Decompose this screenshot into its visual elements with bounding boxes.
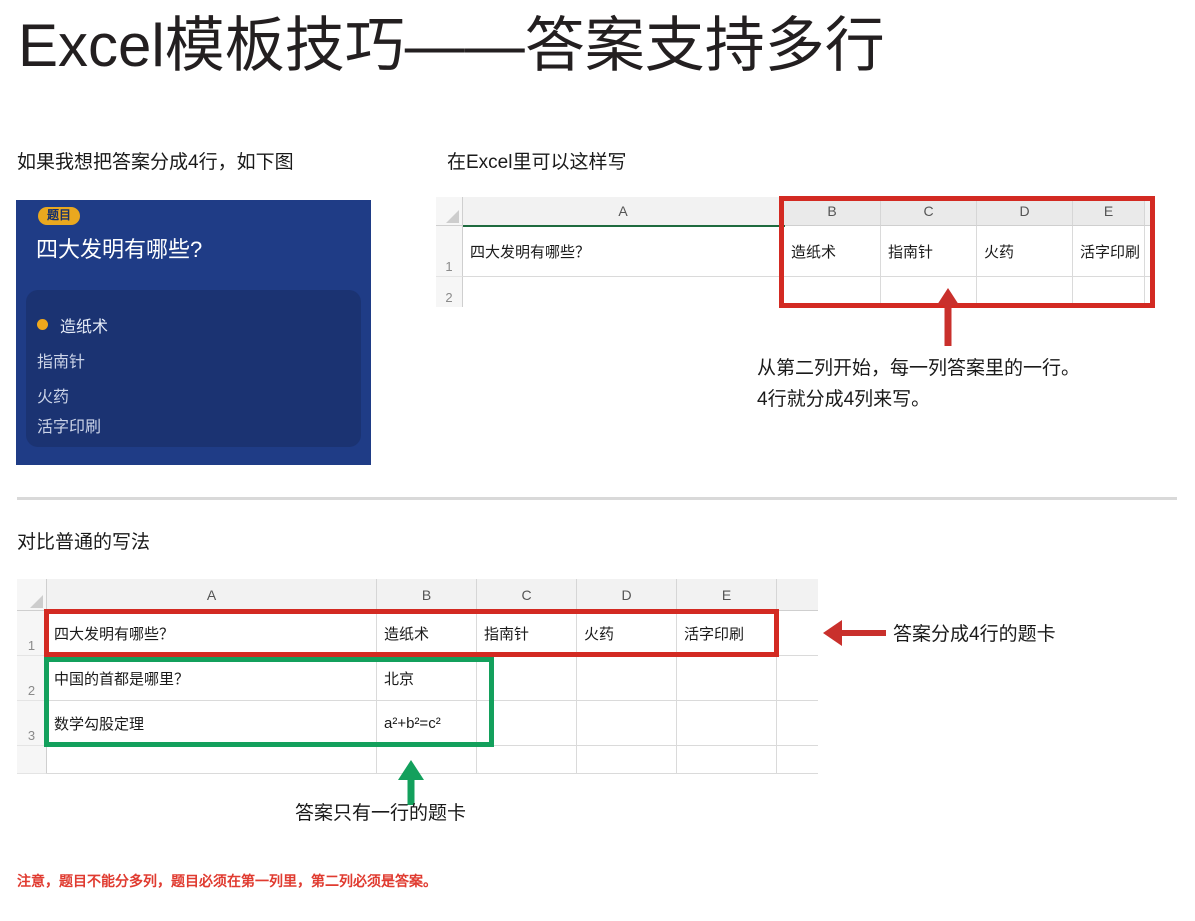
bottom-cell-partial-4[interactable]: [777, 746, 818, 774]
question-card-badge: 题目: [38, 207, 80, 225]
caption-compare: 对比普通的写法: [17, 527, 150, 554]
bottom-col-header-d[interactable]: D: [577, 579, 677, 611]
top-sheet-red-highlight: [779, 196, 1155, 308]
question-card-question: 四大发明有哪些?: [36, 232, 202, 264]
bottom-col-header-a[interactable]: A: [47, 579, 377, 611]
top-annotation-line-1: 从第二列开始，每一列答案里的一行。: [757, 353, 1187, 384]
top-row-header-1[interactable]: 1: [436, 226, 463, 277]
red-left-arrow-icon: [823, 620, 886, 646]
bottom-row-header-4[interactable]: [17, 746, 47, 774]
bottom-cell-d2[interactable]: [577, 656, 677, 701]
answer-line-2: 指南针: [37, 348, 85, 372]
bullet-icon: [37, 319, 48, 330]
top-annotation-note: 从第二列开始，每一列答案里的一行。 4行就分成4列来写。: [757, 353, 1187, 415]
bottom-col-header-b[interactable]: B: [377, 579, 477, 611]
active-column-edge: [463, 225, 785, 227]
bottom-cell-b4[interactable]: [377, 746, 477, 774]
red-arrow-label: 答案分成4行的题卡: [893, 619, 1056, 650]
answer-line-3: 火药: [37, 383, 69, 407]
bottom-cell-e4[interactable]: [677, 746, 777, 774]
bottom-sheet-red-highlight: [44, 609, 779, 657]
bottom-cell-c4[interactable]: [477, 746, 577, 774]
top-row-header-2[interactable]: 2: [436, 277, 463, 307]
bottom-sheet-green-highlight: [44, 657, 494, 747]
bottom-cell-d3[interactable]: [577, 701, 677, 746]
top-col-header-a[interactable]: A: [463, 197, 784, 226]
answer-line-4: 活字印刷: [37, 413, 101, 437]
select-all-corner[interactable]: [436, 197, 463, 226]
bottom-col-header-c[interactable]: C: [477, 579, 577, 611]
bottom-cell-e2[interactable]: [677, 656, 777, 701]
red-up-arrow-icon: [937, 288, 959, 346]
bottom-cell-partial-2[interactable]: [777, 656, 818, 701]
footer-warning: 注意，题目不能分多列，题目必须在第一列里，第二列必须是答案。: [17, 871, 437, 891]
bottom-cell-partial-3[interactable]: [777, 701, 818, 746]
caption-left: 如果我想把答案分成4行，如下图: [17, 147, 294, 174]
bottom-select-all-corner[interactable]: [17, 579, 47, 611]
top-cell-a2[interactable]: [463, 277, 784, 307]
bottom-col-header-partial[interactable]: [777, 579, 818, 611]
green-arrow-label: 答案只有一行的题卡: [295, 798, 466, 829]
caption-right: 在Excel里可以这样写: [447, 147, 626, 174]
bottom-row-header-2[interactable]: 2: [17, 656, 47, 701]
bottom-row-header-1[interactable]: 1: [17, 611, 47, 656]
bottom-col-header-e[interactable]: E: [677, 579, 777, 611]
bottom-cell-a4[interactable]: [47, 746, 377, 774]
bottom-row-header-3[interactable]: 3: [17, 701, 47, 746]
top-annotation-line-2: 4行就分成4列来写。: [757, 384, 1187, 415]
bottom-cell-d4[interactable]: [577, 746, 677, 774]
bottom-cell-e3[interactable]: [677, 701, 777, 746]
top-cell-a1[interactable]: 四大发明有哪些？: [463, 226, 784, 277]
answer-line-1: 造纸术: [60, 313, 108, 337]
section-divider: [17, 497, 1177, 500]
page-title: Excel模板技巧——答案支持多行: [18, 16, 885, 76]
bottom-cell-partial-1[interactable]: [777, 611, 818, 656]
